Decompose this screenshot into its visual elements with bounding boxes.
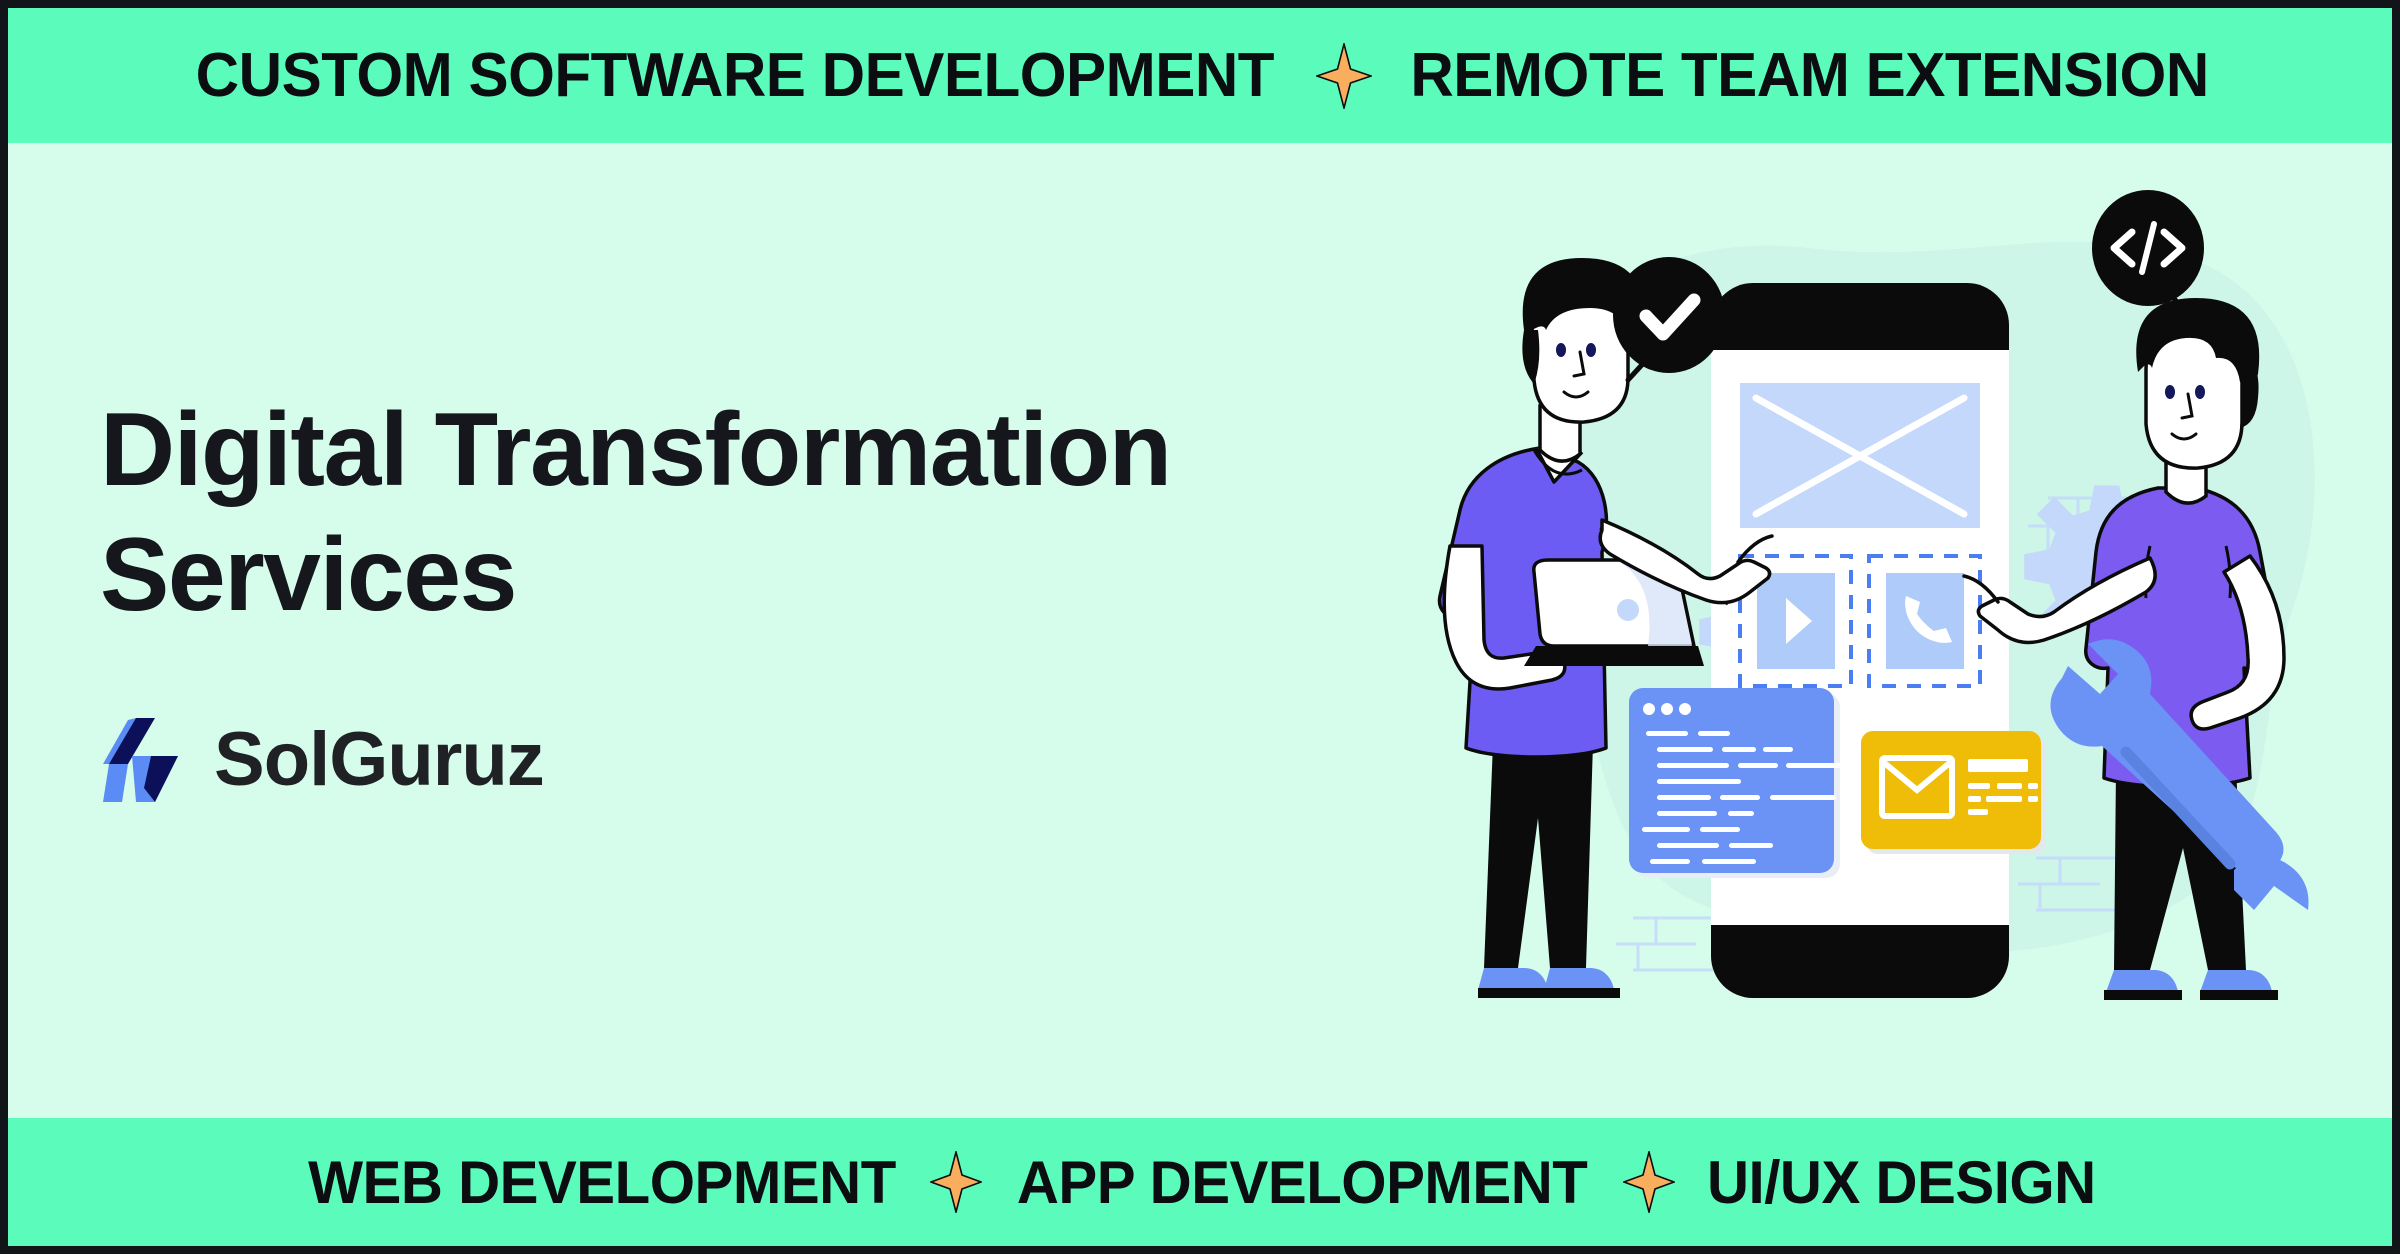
page-title: Digital Transformation Services: [100, 388, 1370, 638]
headline-line-1: Digital Transformation: [100, 392, 1171, 508]
top-marquee-bar: CUSTOM SOFTWARE DEVELOPMENT REMOTE TEAM …: [8, 8, 2392, 143]
sparkle-icon: [1316, 43, 1372, 109]
sparkle-icon: [1623, 1151, 1675, 1213]
bottom-marquee-bar: WEB DEVELOPMENT APP DEVELOPMENT UI/UX DE…: [8, 1118, 2392, 1246]
brand-name: SolGuruz: [214, 716, 544, 803]
brand-lockup: SolGuruz: [100, 714, 1370, 806]
banner-canvas: CUSTOM SOFTWARE DEVELOPMENT REMOTE TEAM …: [8, 8, 2392, 1246]
image-placeholder: [1740, 383, 1980, 528]
top-bar-item-0: CUSTOM SOFTWARE DEVELOPMENT: [195, 40, 1273, 111]
bottom-bar-item-1: APP DEVELOPMENT: [1017, 1148, 1588, 1217]
bottom-bar-item-0: WEB DEVELOPMENT: [308, 1148, 896, 1217]
sparkle-icon: [930, 1151, 982, 1213]
headline-line-2: Services: [100, 517, 516, 633]
solguruz-s-mark-icon: [100, 714, 186, 806]
digital-transformation-illustration: [1388, 158, 2388, 1058]
email-card: [1861, 731, 2046, 854]
code-window-card: [1629, 688, 1852, 878]
phone-mockup: [1711, 283, 2009, 998]
bottom-bar-item-2: UI/UX DESIGN: [1707, 1148, 2096, 1217]
top-bar-item-1: REMOTE TEAM EXTENSION: [1411, 40, 2209, 111]
hero-content: Digital Transformation Services SolGuruz: [100, 388, 1370, 806]
